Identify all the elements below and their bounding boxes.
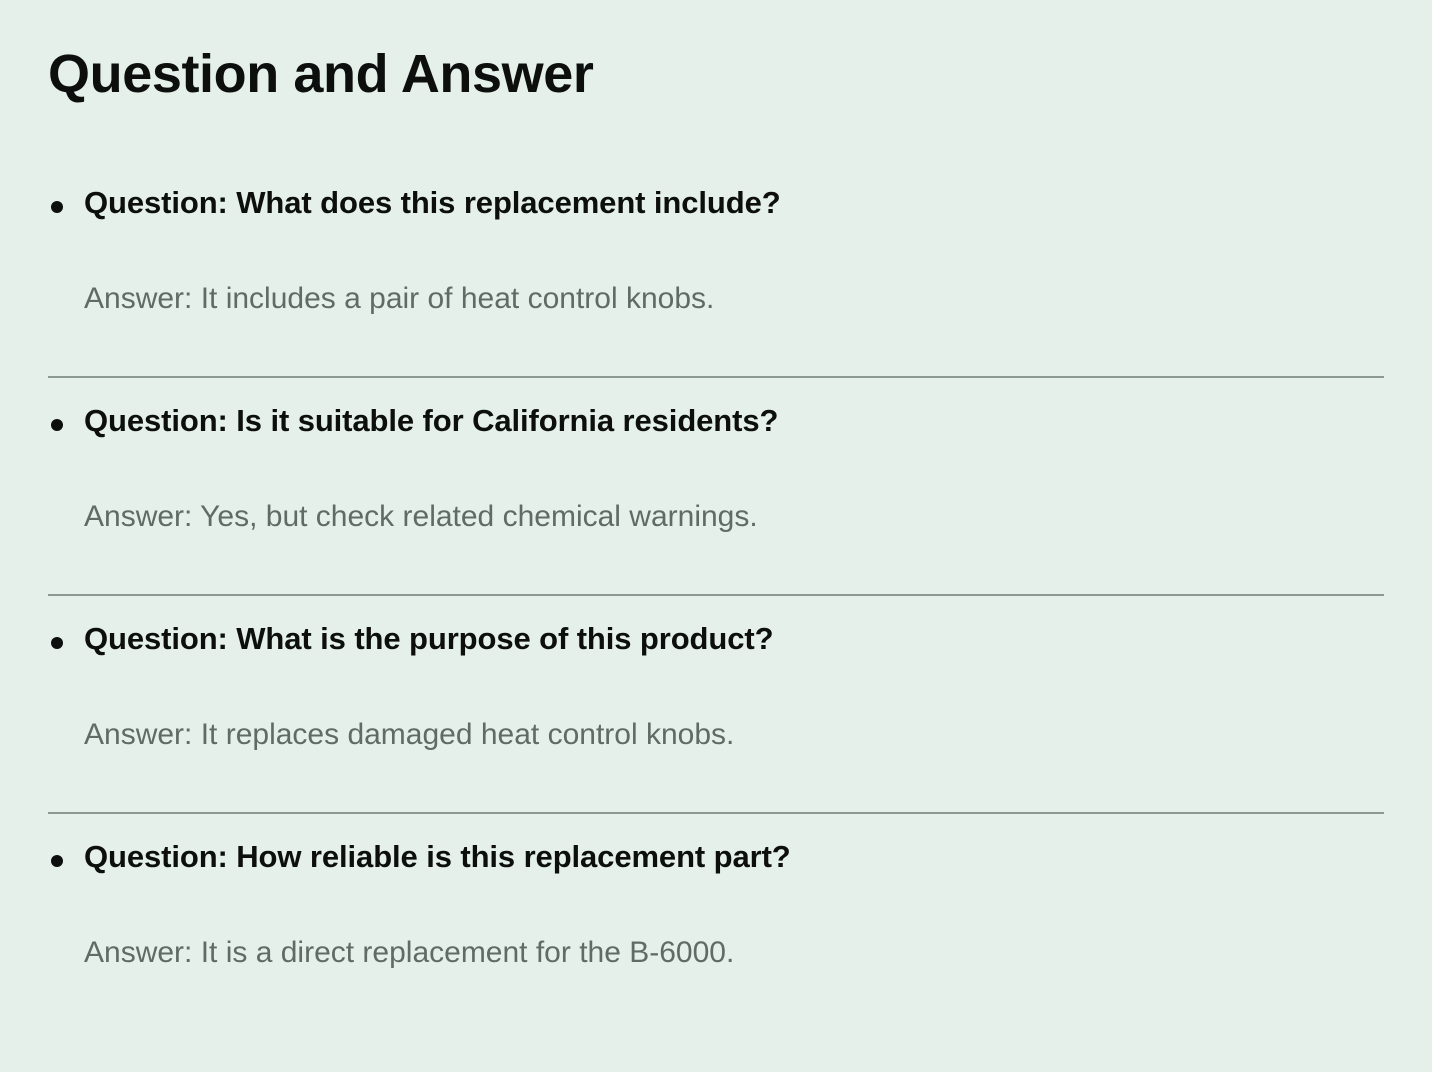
qa-question: Question: What does this replacement inc… xyxy=(84,168,1384,224)
qa-divider xyxy=(48,812,1384,814)
qa-item: Question: What does this replacement inc… xyxy=(0,168,1432,386)
qa-question: Question: What is the purpose of this pr… xyxy=(84,604,1384,660)
qa-answer: Answer: It replaces damaged heat control… xyxy=(84,660,1384,754)
qa-item: Question: What is the purpose of this pr… xyxy=(0,604,1432,822)
qa-divider xyxy=(48,594,1384,596)
bullet-icon xyxy=(51,419,63,431)
qa-question: Question: Is it suitable for California … xyxy=(84,386,1384,442)
qa-answer: Answer: It is a direct replacement for t… xyxy=(84,878,1384,972)
qa-item: Question: Is it suitable for California … xyxy=(0,386,1432,604)
qa-item: Question: How reliable is this replaceme… xyxy=(0,822,1432,1040)
qa-question: Question: How reliable is this replaceme… xyxy=(84,822,1384,878)
bullet-icon xyxy=(51,855,63,867)
question-and-answer-section: Question and Answer Question: What does … xyxy=(0,0,1432,1072)
qa-divider xyxy=(48,376,1384,378)
page-title: Question and Answer xyxy=(48,44,593,104)
qa-answer: Answer: It includes a pair of heat contr… xyxy=(84,224,1384,318)
qa-answer: Answer: Yes, but check related chemical … xyxy=(84,442,1384,536)
bullet-icon xyxy=(51,637,63,649)
bullet-icon xyxy=(51,201,63,213)
qa-list: Question: What does this replacement inc… xyxy=(0,168,1432,1040)
